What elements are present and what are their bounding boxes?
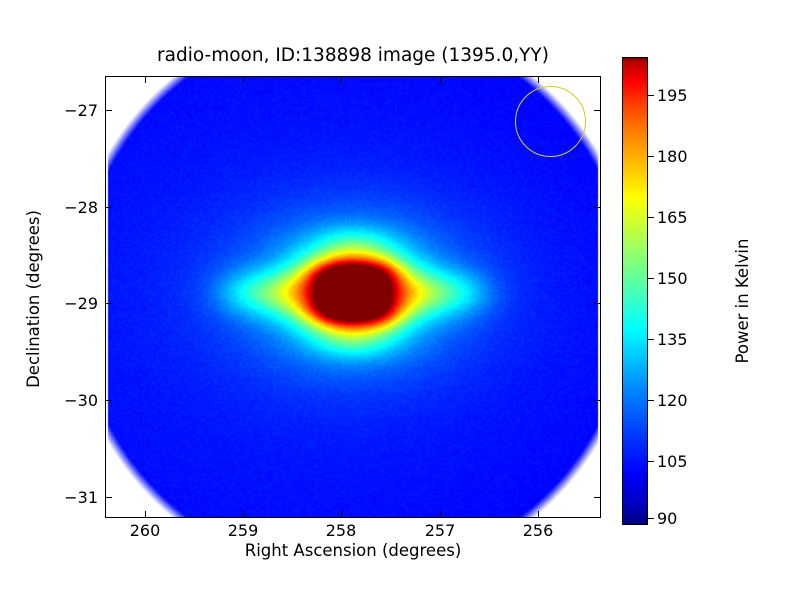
ytick-label-0: −27 — [30, 101, 98, 120]
xtick-mark-top-3 — [440, 76, 441, 83]
ytick-label-4: −31 — [30, 488, 98, 507]
moon-disk-circle-overlay — [515, 86, 586, 157]
colorbar-tick-mark-6 — [648, 461, 654, 462]
xtick-label-0: 260 — [110, 521, 180, 540]
xtick-label-3: 257 — [405, 521, 475, 540]
colorbar-tick-mark-0 — [648, 95, 654, 96]
figure-canvas: radio-moon, ID:138898 image (1395.0,YY) … — [0, 0, 800, 600]
xtick-mark-top-4 — [538, 76, 539, 83]
colorbar-tick-label-0: 195 — [657, 86, 688, 105]
xtick-label-4: 256 — [503, 521, 573, 540]
xtick-mark-top-1 — [243, 76, 244, 83]
ytick-mark-1 — [105, 207, 112, 208]
ytick-mark-3 — [105, 400, 112, 401]
colorbar-tick-mark-2 — [648, 217, 654, 218]
ytick-mark-right-0 — [594, 110, 601, 111]
colorbar-tick-label-5: 120 — [657, 391, 688, 410]
y-axis-label: Declination (degrees) — [24, 189, 44, 409]
ytick-mark-right-1 — [594, 207, 601, 208]
colorbar-tick-label-7: 90 — [657, 509, 677, 528]
xtick-mark-0 — [145, 511, 146, 518]
colorbar-gradient — [623, 58, 647, 524]
xtick-mark-2 — [341, 511, 342, 518]
ytick-mark-right-3 — [594, 400, 601, 401]
colorbar-tick-mark-1 — [648, 156, 654, 157]
sky-map-axes[interactable] — [105, 76, 601, 518]
xtick-mark-3 — [440, 511, 441, 518]
colorbar[interactable] — [622, 57, 648, 525]
xtick-mark-4 — [538, 511, 539, 518]
page-title: radio-moon, ID:138898 image (1395.0,YY) — [105, 45, 601, 67]
colorbar-tick-mark-4 — [648, 339, 654, 340]
ytick-mark-right-4 — [594, 497, 601, 498]
colorbar-tick-label-4: 135 — [657, 330, 688, 349]
ytick-mark-0 — [105, 110, 112, 111]
colorbar-tick-mark-3 — [648, 278, 654, 279]
colorbar-tick-mark-7 — [648, 518, 654, 519]
xtick-label-2: 258 — [306, 521, 376, 540]
colorbar-tick-label-6: 105 — [657, 452, 688, 471]
colorbar-tick-label-2: 165 — [657, 208, 688, 227]
colorbar-tick-label-3: 150 — [657, 269, 688, 288]
ytick-mark-right-2 — [594, 303, 601, 304]
colorbar-tick-mark-5 — [648, 400, 654, 401]
colorbar-tick-label-1: 180 — [657, 147, 688, 166]
xtick-mark-1 — [243, 511, 244, 518]
xtick-mark-top-0 — [145, 76, 146, 83]
ytick-mark-4 — [105, 497, 112, 498]
xtick-label-1: 259 — [208, 521, 278, 540]
ytick-mark-2 — [105, 303, 112, 304]
colorbar-label: Power in Kelvin — [733, 171, 753, 431]
xtick-mark-top-2 — [341, 76, 342, 83]
x-axis-label: Right Ascension (degrees) — [105, 541, 601, 561]
